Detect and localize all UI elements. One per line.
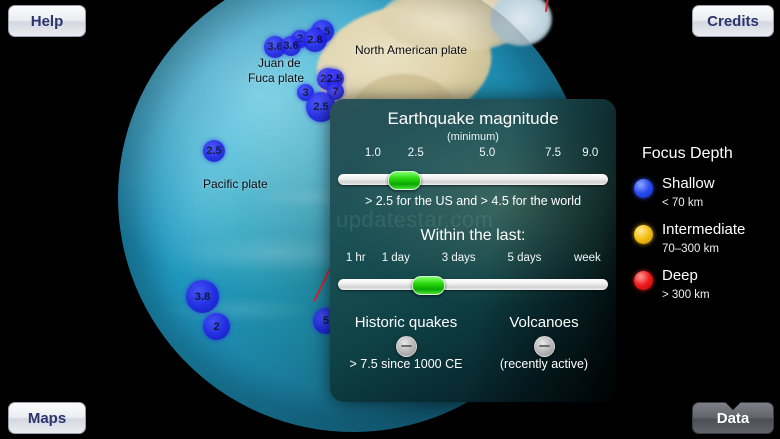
legend-item-name: Shallow [662,175,715,192]
plate-label: Pacific plate [203,177,268,191]
plate-label: Juan de [258,56,301,70]
quake-marker[interactable]: 3.8 [186,280,219,313]
historic-quakes-group: Historic quakes > 7.5 since 1000 CE [342,314,470,371]
timeframe-title: Within the last: [330,227,616,245]
tick-label: 5 days [508,252,542,264]
legend-item-name: Intermediate [662,221,745,238]
plate-label: North American plate [355,43,467,57]
legend-item-range: < 70 km [662,197,703,209]
legend-item-name: Deep [662,267,698,284]
tick-label: 5.0 [479,147,495,159]
legend-rows: Shallow< 70 kmIntermediate70–300 kmDeep>… [634,177,780,315]
magnitude-title: Earthquake magnitude [330,109,616,129]
data-button-label: Data [717,410,750,427]
data-button[interactable]: Data [692,402,774,434]
tick-label: week [574,252,601,264]
tick-label: 1 hr [346,252,366,264]
historic-quakes-caption: > 7.5 since 1000 CE [342,357,470,371]
volcanoes-label: Volcanoes [480,314,608,331]
maps-button[interactable]: Maps [8,402,86,434]
historic-quakes-toggle[interactable] [396,336,417,357]
quake-marker[interactable]: 2.8 [303,28,327,52]
legend-dot-intermediate-icon [634,225,653,244]
focus-depth-legend: Focus Depth Shallow< 70 kmIntermediate70… [634,145,780,315]
timeframe-slider-thumb[interactable] [412,276,445,295]
volcanoes-toggle[interactable] [534,336,555,357]
magnitude-caption: > 2.5 for the US and > 4.5 for the world [330,194,616,208]
volcanoes-group: Volcanoes (recently active) [480,314,608,371]
data-button-notch [725,402,741,410]
control-panel: updatestar.com Earthquake magnitude (min… [330,99,616,402]
tick-label: 3 days [442,252,476,264]
tick-label: 7.5 [545,147,561,159]
quake-marker[interactable]: 3.6 [281,36,301,56]
tick-label: 9.0 [582,147,598,159]
app-root: North American plateJuan deFuca platePac… [0,0,780,439]
quake-marker[interactable]: 2 [203,313,230,340]
tick-label: 1 day [382,252,410,264]
timeframe-tick-labels: 1 hr1 day3 days5 daysweek [330,252,616,266]
legend-title: Focus Depth [642,145,780,163]
plate-label: Fuca plate [248,71,304,85]
legend-row: Deep> 300 km [634,269,780,315]
magnitude-slider-thumb[interactable] [388,171,421,190]
legend-row: Intermediate70–300 km [634,223,780,269]
legend-dot-deep-icon [634,271,653,290]
tick-label: 1.0 [365,147,381,159]
help-button[interactable]: Help [8,5,86,37]
tick-label: 2.5 [408,147,424,159]
magnitude-slider[interactable] [338,174,608,185]
volcanoes-caption: (recently active) [480,357,608,371]
magnitude-subtitle: (minimum) [330,131,616,143]
magnitude-tick-labels: 1.02.55.07.59.0 [330,147,616,161]
legend-item-range: 70–300 km [662,243,719,255]
credits-button[interactable]: Credits [692,5,774,37]
quake-marker[interactable]: 2.5 [203,140,225,162]
timeframe-slider[interactable] [338,279,608,290]
legend-row: Shallow< 70 km [634,177,780,223]
legend-item-range: > 300 km [662,289,710,301]
historic-quakes-label: Historic quakes [342,314,470,331]
legend-dot-shallow-icon [634,179,653,198]
